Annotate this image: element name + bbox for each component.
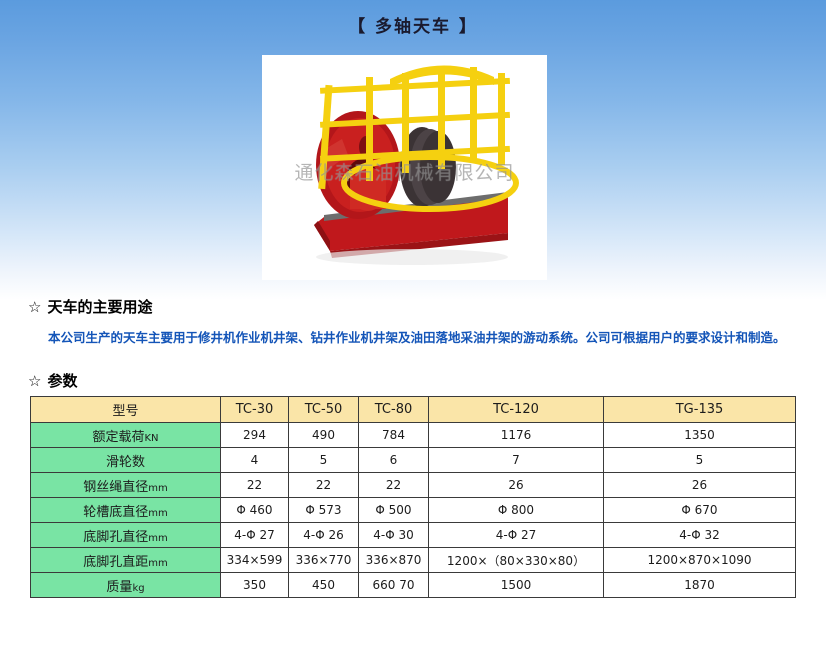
table-cell: Φ 800 <box>429 498 604 523</box>
row-label: 滑轮数 <box>106 455 145 470</box>
table-cell: 4-Φ 32 <box>604 523 796 548</box>
table-body: 额定载荷KN29449078411761350滑轮数45675钢丝绳直径mm22… <box>31 423 796 598</box>
product-image: 通化森石油机械有限公司 <box>262 55 547 280</box>
section-heading-parameters-label: 参数 <box>47 372 77 390</box>
row-header-cell: 滑轮数 <box>31 448 221 473</box>
table-cell: 1176 <box>429 423 604 448</box>
table-cell: 1350 <box>604 423 796 448</box>
table-cell: 1500 <box>429 573 604 598</box>
row-label: 轮槽底直径 <box>83 505 148 520</box>
column-header-tc50: TC-50 <box>289 397 359 423</box>
table-row: 钢丝绳直径mm2222222626 <box>31 473 796 498</box>
table-cell: 350 <box>221 573 289 598</box>
section-heading-parameters: ☆参数 <box>28 370 77 391</box>
table-cell: 4 <box>221 448 289 473</box>
table-cell: 5 <box>604 448 796 473</box>
table-cell: 22 <box>289 473 359 498</box>
table-cell: 26 <box>429 473 604 498</box>
table-header-row: 型号 TC-30 TC-50 TC-80 TC-120 TG-135 <box>31 397 796 423</box>
table-row: 滑轮数45675 <box>31 448 796 473</box>
table-row: 轮槽底直径mmΦ 460Φ 573Φ 500Φ 800Φ 670 <box>31 498 796 523</box>
table-cell: 490 <box>289 423 359 448</box>
table-cell: 294 <box>221 423 289 448</box>
row-label: 钢丝绳直径 <box>83 480 148 495</box>
table-row: 底脚孔直径mm4-Φ 274-Φ 264-Φ 304-Φ 274-Φ 32 <box>31 523 796 548</box>
table-cell: 22 <box>221 473 289 498</box>
row-header-cell: 钢丝绳直径mm <box>31 473 221 498</box>
table-cell: Φ 500 <box>359 498 429 523</box>
star-icon: ☆ <box>28 372 41 390</box>
table-cell: 7 <box>429 448 604 473</box>
row-header-cell: 底脚孔直径mm <box>31 523 221 548</box>
row-label: 底脚孔直距 <box>83 555 148 570</box>
table-cell: 4-Φ 30 <box>359 523 429 548</box>
table-cell: 336×870 <box>359 548 429 573</box>
row-header-cell: 轮槽底直径mm <box>31 498 221 523</box>
row-label: 额定载荷 <box>92 430 144 445</box>
column-header-model: 型号 <box>31 397 221 423</box>
parameters-table-wrapper: 型号 TC-30 TC-50 TC-80 TC-120 TG-135 额定载荷K… <box>30 396 795 598</box>
row-unit: kg <box>132 583 144 594</box>
row-unit: mm <box>148 533 167 544</box>
table-cell: Φ 670 <box>604 498 796 523</box>
row-label: 质量 <box>106 580 132 595</box>
table-row: 质量kg350450660 7015001870 <box>31 573 796 598</box>
column-header-tc120: TC-120 <box>429 397 604 423</box>
table-cell: 1200×（80×330×80） <box>429 548 604 573</box>
star-icon: ☆ <box>28 298 41 316</box>
page-title: 【 多轴天车 】 <box>348 17 478 37</box>
table-cell: 1200×870×1090 <box>604 548 796 573</box>
parameters-table: 型号 TC-30 TC-50 TC-80 TC-120 TG-135 额定载荷K… <box>30 396 796 598</box>
section-heading-usage-label: 天车的主要用途 <box>47 298 152 316</box>
row-unit: mm <box>148 483 167 494</box>
table-cell: Φ 460 <box>221 498 289 523</box>
usage-paragraph: 本公司生产的天车主要用于修井机作业机井架、钻井作业机井架及油田落地采油井架的游动… <box>48 330 818 346</box>
table-cell: 22 <box>359 473 429 498</box>
row-header-cell: 底脚孔直距mm <box>31 548 221 573</box>
table-cell: 1870 <box>604 573 796 598</box>
column-header-tc80: TC-80 <box>359 397 429 423</box>
row-unit: KN <box>144 433 158 444</box>
row-unit: mm <box>148 508 167 519</box>
table-cell: Φ 573 <box>289 498 359 523</box>
table-cell: 4-Φ 27 <box>221 523 289 548</box>
row-header-cell: 质量kg <box>31 573 221 598</box>
table-cell: 26 <box>604 473 796 498</box>
table-cell: 336×770 <box>289 548 359 573</box>
table-cell: 334×599 <box>221 548 289 573</box>
row-label: 底脚孔直径 <box>83 530 148 545</box>
table-row: 底脚孔直距mm334×599336×770336×8701200×（80×330… <box>31 548 796 573</box>
table-cell: 4-Φ 26 <box>289 523 359 548</box>
section-heading-usage: ☆天车的主要用途 <box>28 296 152 317</box>
table-cell: 660 70 <box>359 573 429 598</box>
table-header: 型号 TC-30 TC-50 TC-80 TC-120 TG-135 <box>31 397 796 423</box>
product-page: 【 多轴天车 】 <box>0 0 826 662</box>
column-header-tc30: TC-30 <box>221 397 289 423</box>
product-image-illustration <box>262 55 547 280</box>
row-unit: mm <box>148 558 167 569</box>
table-cell: 450 <box>289 573 359 598</box>
row-header-cell: 额定载荷KN <box>31 423 221 448</box>
page-title-bar: 【 多轴天车 】 <box>0 12 826 37</box>
table-cell: 4-Φ 27 <box>429 523 604 548</box>
table-row: 额定载荷KN29449078411761350 <box>31 423 796 448</box>
table-cell: 6 <box>359 448 429 473</box>
table-cell: 5 <box>289 448 359 473</box>
column-header-tg135: TG-135 <box>604 397 796 423</box>
table-cell: 784 <box>359 423 429 448</box>
